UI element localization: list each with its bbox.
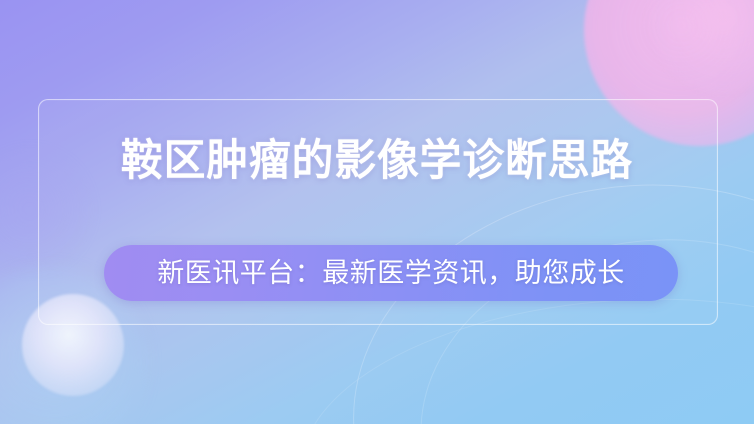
subtitle-text: 新医讯平台：最新医学资讯，助您成长: [157, 260, 625, 287]
slide-title: 鞍区肿瘤的影像学诊断思路: [11, 140, 742, 183]
slide-content: 鞍区肿瘤的影像学诊断思路 新医讯平台：最新医学资讯，助您成长: [0, 0, 754, 424]
subtitle-pill: 新医讯平台：最新医学资讯，助您成长: [104, 245, 678, 301]
presentation-slide: 鞍区肿瘤的影像学诊断思路 新医讯平台：最新医学资讯，助您成长: [0, 0, 754, 424]
